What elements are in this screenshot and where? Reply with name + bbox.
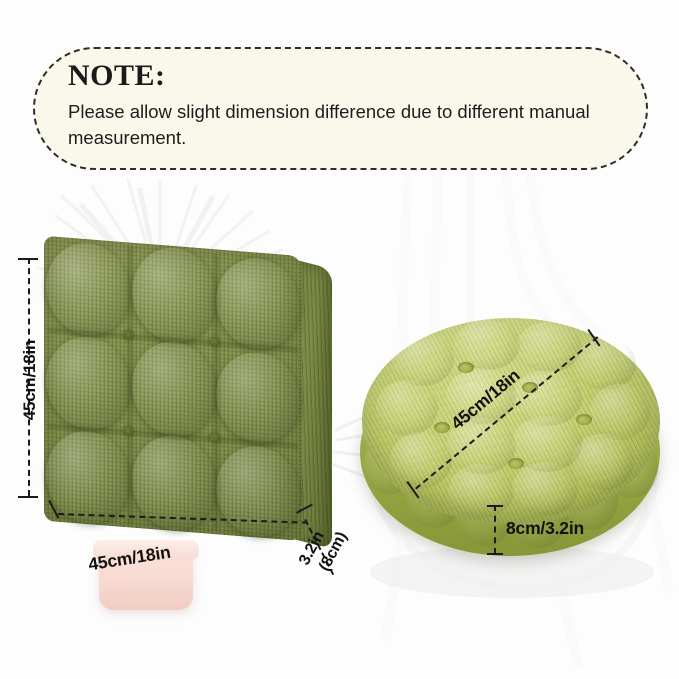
round-thickness-cap-bottom — [487, 553, 503, 555]
square-height-label: 45cm/18in — [20, 328, 40, 432]
product-infographic: 45cm/18in 45cm/18in 3.2in (8cm) 45cm/18i… — [0, 0, 679, 679]
round-cushion — [356, 308, 668, 580]
square-cushion — [44, 247, 332, 547]
round-thickness-label: 8cm/3.2in — [506, 518, 584, 539]
square-height-cap-top — [18, 258, 38, 260]
note-title: NOTE: — [68, 59, 166, 93]
round-thickness-dimension-line — [494, 505, 496, 554]
square-height-cap-bottom — [18, 496, 38, 498]
note-body: Please allow slight dimension difference… — [68, 99, 624, 151]
note-box: NOTE: Please allow slight dimension diff… — [33, 47, 648, 170]
square-cushion-face — [44, 236, 302, 541]
round-cushion-top — [362, 318, 660, 524]
